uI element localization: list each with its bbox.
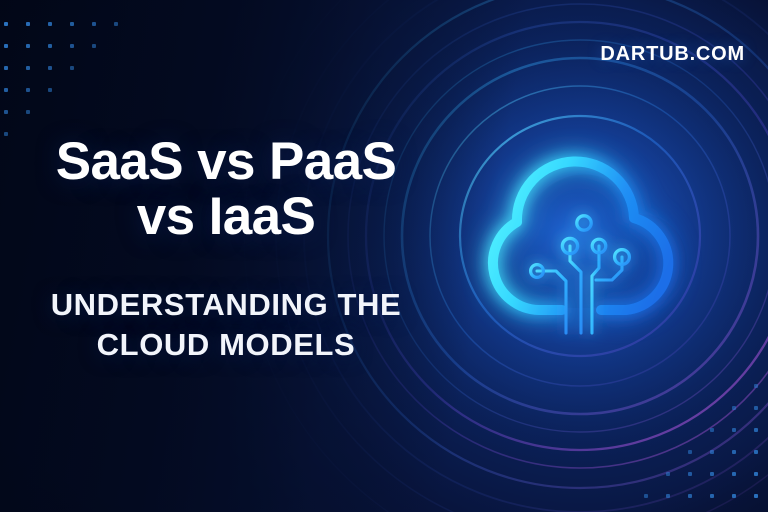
page-title-line-2: vs IaaS xyxy=(0,189,452,244)
poster-canvas: DARTUB.COM SaaS vs PaaS vs IaaS UNDERSTA… xyxy=(0,0,768,512)
page-subtitle-line-1: UNDERSTANDING THE xyxy=(0,285,452,325)
page-subtitle-line-2: CLOUD MODELS xyxy=(0,325,452,365)
page-subtitle: UNDERSTANDING THE CLOUD MODELS xyxy=(0,285,452,364)
page-title-line-1: SaaS vs PaaS xyxy=(0,134,452,189)
vignette-overlay xyxy=(0,0,768,512)
page-title: SaaS vs PaaS vs IaaS xyxy=(0,134,452,244)
brand-logo: DARTUB.COM xyxy=(600,43,745,66)
